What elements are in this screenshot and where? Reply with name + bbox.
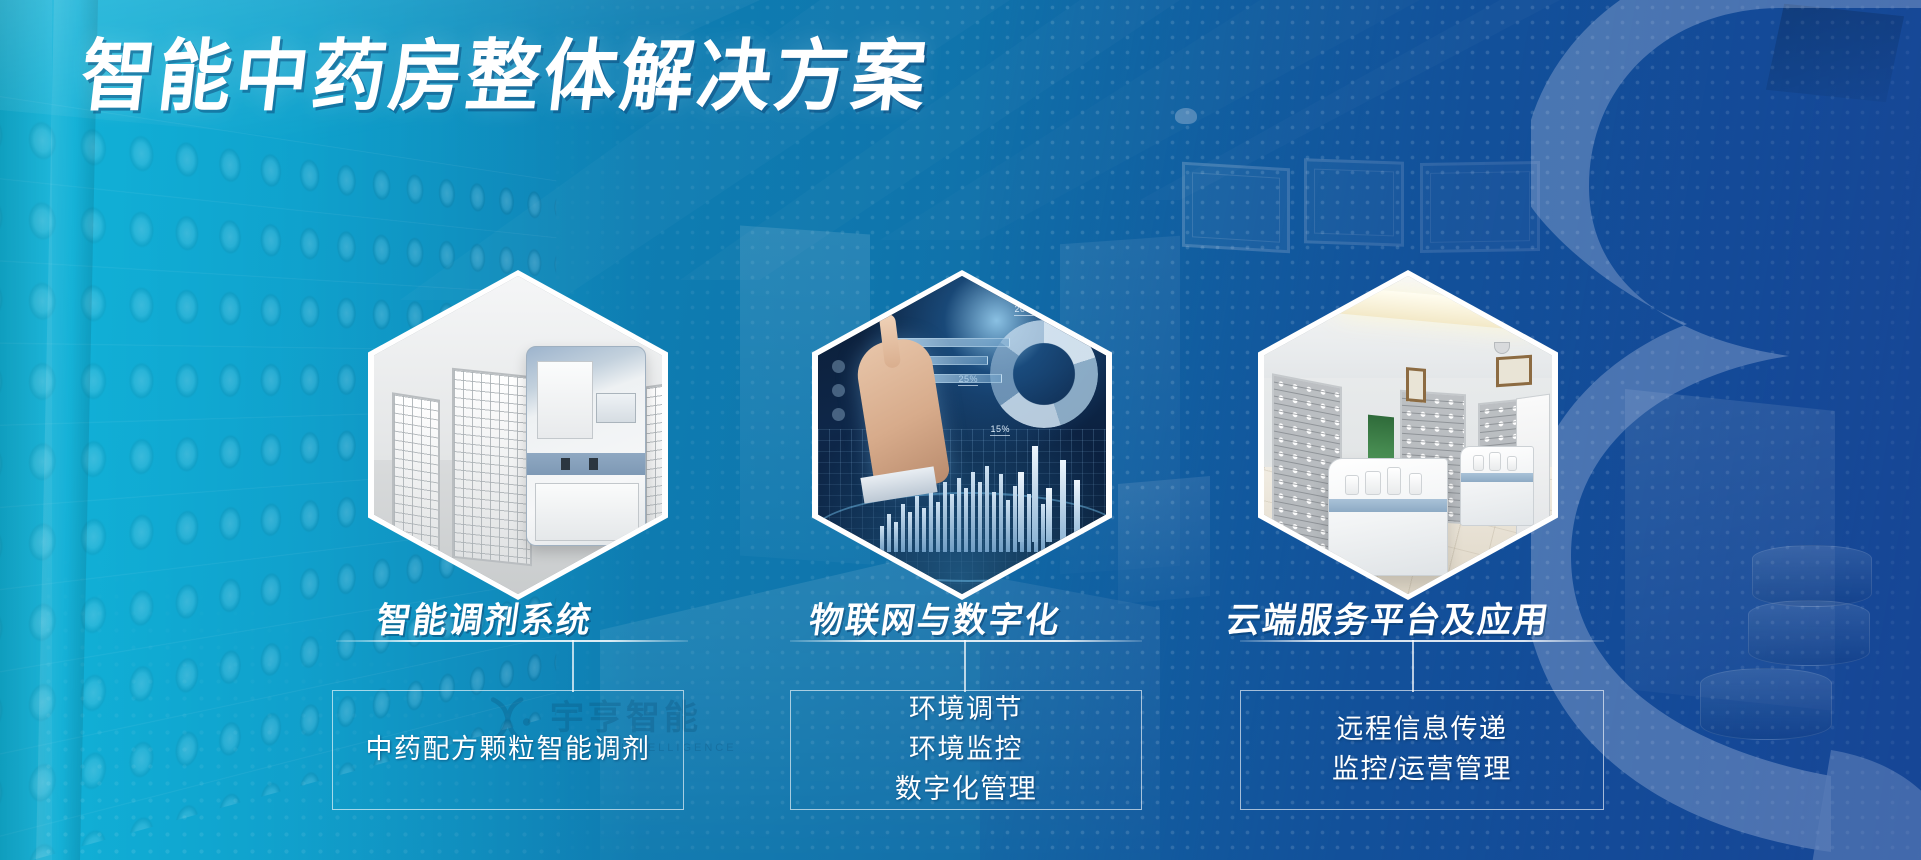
- hexagon-frame-2: 20% 25% 15%: [812, 270, 1112, 600]
- section-item: 监控/运营管理: [1332, 750, 1512, 790]
- hexagon-frame-1: [368, 270, 668, 600]
- section-item: 数字化管理: [895, 770, 1038, 810]
- section-item: 远程信息传递: [1337, 710, 1508, 750]
- hexagon-image-clip-3: [1264, 276, 1552, 594]
- section-connector-1: [572, 640, 574, 692]
- section-rule-2: [790, 640, 1142, 642]
- section-connector-3: [1412, 640, 1414, 692]
- section-heading-cloud-platform: 云端服务平台及应用: [1223, 592, 1553, 643]
- section-item: 环境调节: [909, 690, 1023, 730]
- section-connector-2: [964, 640, 966, 692]
- hex-card-cloud-platform[interactable]: [1258, 270, 1578, 600]
- hexagon-image-clip-2: 20% 25% 15%: [818, 276, 1106, 594]
- section-rule-3: [1240, 640, 1604, 642]
- banner-canvas: 智能中药房整体解决方案 宇亨智能 YUHENG INTELLIGENCE: [0, 0, 1921, 860]
- hex-card-smart-dispensing[interactable]: [368, 270, 688, 600]
- pharmacy-room-photo: [1264, 276, 1552, 594]
- hex-card-iot-digital[interactable]: 20% 25% 15%: [812, 270, 1132, 600]
- page-title: 智能中药房整体解决方案: [77, 36, 934, 117]
- digital-dashboard-photo: 20% 25% 15%: [818, 276, 1106, 594]
- section-item: 中药配方颗粒智能调剂: [366, 730, 651, 770]
- section-heading-smart-dispensing: 智能调剂系统: [374, 592, 597, 643]
- section-box-smart-dispensing: 中药配方颗粒智能调剂: [332, 690, 684, 810]
- hexagon-image-clip-1: [374, 276, 662, 594]
- section-rule-1: [336, 640, 688, 642]
- section-box-iot-digital: 环境调节 环境监控 数字化管理: [790, 690, 1142, 810]
- section-box-cloud-platform: 远程信息传递 监控/运营管理: [1240, 690, 1604, 810]
- dispensing-machine-photo: [374, 276, 662, 594]
- section-item: 环境监控: [909, 730, 1023, 770]
- hexagon-frame-3: [1258, 270, 1558, 600]
- section-heading-iot-digital: 物联网与数字化: [806, 592, 1064, 643]
- donut-label-c: 15%: [990, 424, 1010, 436]
